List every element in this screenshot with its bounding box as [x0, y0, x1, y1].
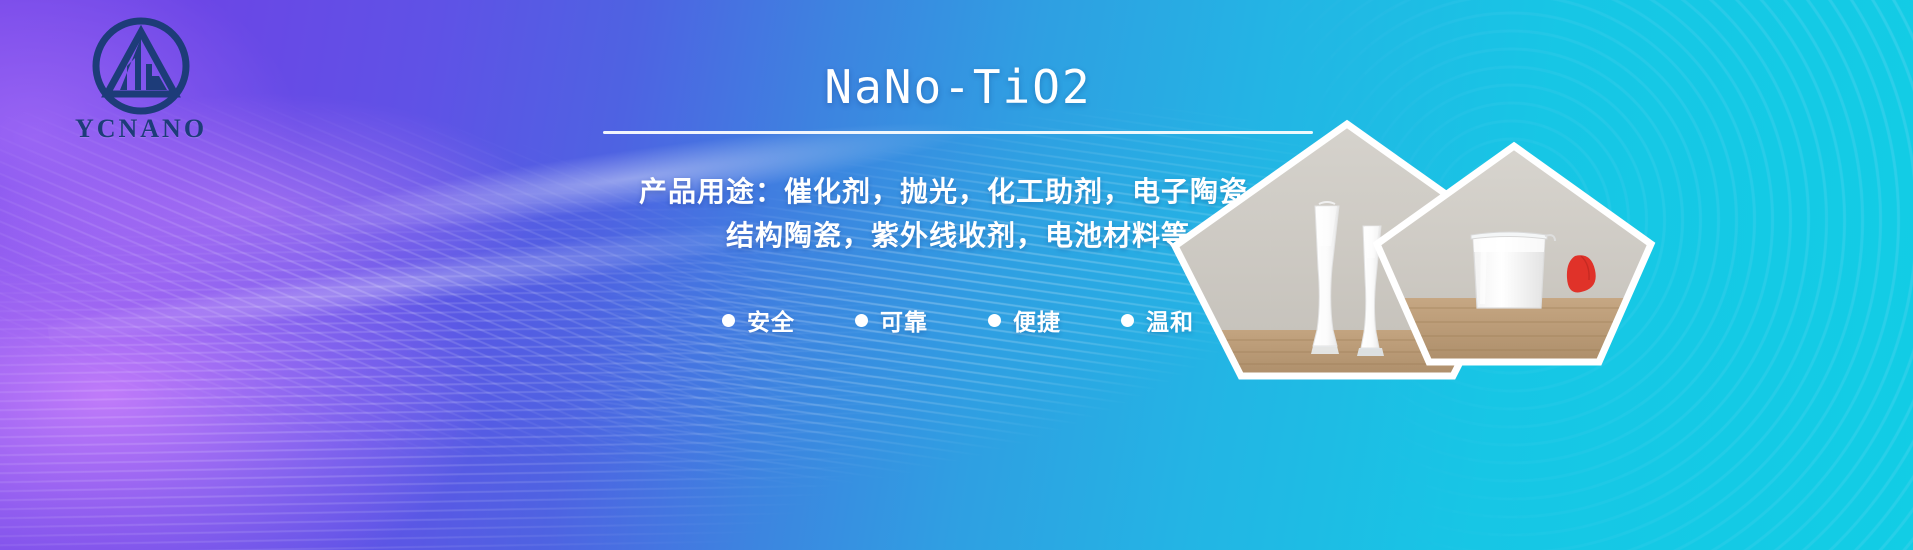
dot-icon: [988, 314, 1001, 327]
feature-label: 便捷: [1013, 303, 1061, 337]
dot-icon: [1121, 314, 1134, 327]
dot-icon: [855, 314, 868, 327]
feature-item-convenient: 便捷: [988, 303, 1061, 337]
brand-wordmark: YCNANO: [75, 114, 207, 144]
page-title: NaNo-TiO2: [478, 62, 1438, 113]
feature-label: 可靠: [880, 303, 928, 337]
product-photo-group: [1353, 0, 1913, 550]
product-photo-beaker[interactable]: [1369, 140, 1659, 368]
feature-item-reliable: 可靠: [855, 303, 928, 337]
product-banner: YCNANO NaNo-TiO2 产品用途：催化剂，抛光，化工助剂，电子陶瓷， …: [0, 0, 1913, 550]
ycnano-triangle-circle-logo-icon: [89, 14, 193, 118]
feature-label: 安全: [747, 303, 795, 337]
dot-icon: [722, 314, 735, 327]
feature-item-safe: 安全: [722, 303, 795, 337]
brand-logo[interactable]: YCNANO: [46, 14, 236, 162]
